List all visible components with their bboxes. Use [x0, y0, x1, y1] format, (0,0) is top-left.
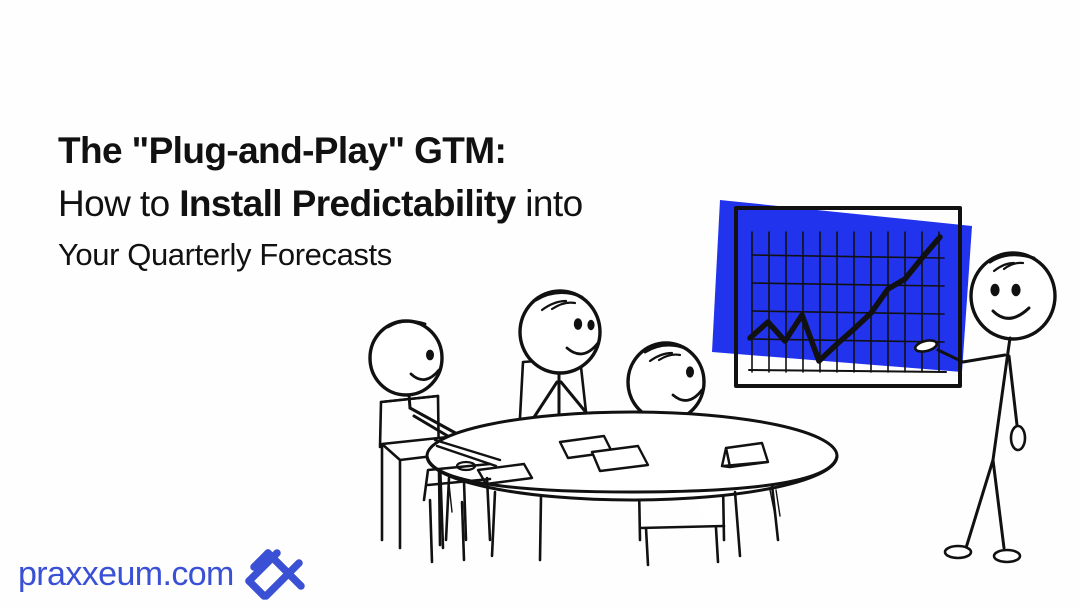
headline-line-2-emphasis: Install Predictability — [179, 183, 515, 224]
whiteboard-frame — [736, 208, 960, 386]
chart-grid-horizontal — [752, 255, 944, 342]
laptop — [722, 443, 768, 467]
presenter-figure — [914, 253, 1055, 562]
paper-sheet — [592, 446, 648, 471]
illustration — [0, 0, 1080, 608]
paper-sheet — [478, 464, 532, 484]
seated-figure-left — [370, 321, 470, 548]
headline-line-3: Your Quarterly Forecasts — [58, 230, 718, 280]
chair-left-secondary — [424, 464, 490, 562]
seated-figure-center — [519, 291, 601, 458]
chart-data-line — [750, 237, 940, 361]
brand-logo[interactable]: praxxeum.com — [18, 545, 306, 603]
seated-figure-right — [622, 343, 724, 565]
chart-grid-vertical — [752, 232, 939, 372]
page-title: The "Plug-and-Play" GTM: How to Install … — [58, 124, 718, 280]
praxxeum-x-mark — [244, 545, 306, 603]
brand-wordmark: praxxeum.com — [18, 557, 234, 591]
headline-line-1: The "Plug-and-Play" GTM: — [58, 124, 718, 177]
slide-canvas: The "Plug-and-Play" GTM: How to Install … — [0, 0, 1080, 608]
whiteboard — [712, 200, 972, 386]
round-table — [427, 412, 837, 560]
blue-tilted-panel — [712, 200, 972, 372]
paper-sheet — [560, 436, 612, 458]
headline-line-2-pre: How to — [58, 183, 179, 224]
chart-baseline — [749, 370, 946, 372]
headline-line-2-post: into — [516, 183, 583, 224]
headline-line-2: How to Install Predictability into — [58, 177, 718, 230]
